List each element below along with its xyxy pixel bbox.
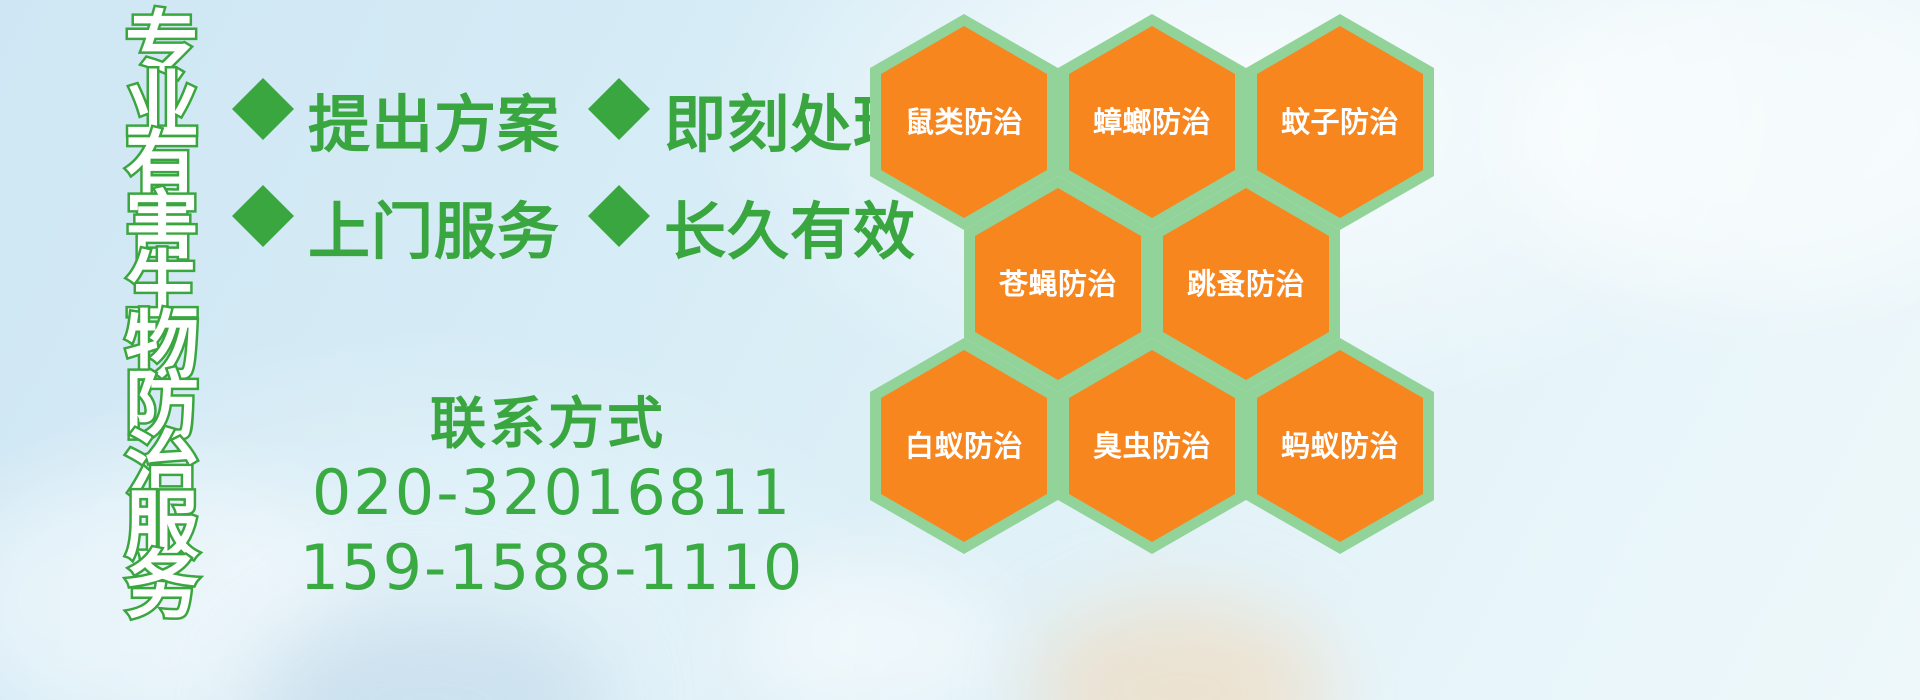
hex-label: 跳蚤防治 (1187, 270, 1305, 299)
hex-inner: 蚊子防治 (1257, 26, 1423, 218)
hex-label: 蟑螂防治 (1093, 108, 1211, 137)
service-honeycomb: 鼠类防治 蟑螂防治 蚊子防治 苍蝇防治 跳蚤防治 白蚁防治 (862, 8, 1462, 568)
contact-block: 联系方式 020-32016811 159-1588-1110 (232, 396, 872, 606)
hex-label: 苍蝇防治 (999, 270, 1117, 299)
pest-control-banner: 专 业 有 害 生 物 防 治 服 务 提出方案 即刻处理 上门服务 (0, 0, 1920, 700)
hex-inner: 蟑螂防治 (1069, 26, 1235, 218)
hex-label: 臭虫防治 (1093, 432, 1211, 461)
phone-number-landline[interactable]: 020-32016811 (232, 455, 872, 531)
feature-list: 提出方案 即刻处理 上门服务 长久有效 (232, 78, 862, 292)
hex-inner: 苍蝇防治 (975, 188, 1141, 380)
background-blur-blob (250, 600, 610, 700)
hex-inner: 跳蚤防治 (1163, 188, 1329, 380)
feature-label: 提出方案 (308, 94, 560, 156)
vertical-headline-char: 务 (125, 556, 199, 616)
hex-label: 蚊子防治 (1281, 108, 1399, 137)
contact-heading: 联系方式 (430, 396, 872, 455)
feature-row: 上门服务 长久有效 (232, 185, 862, 278)
background-blur-blob (1500, 0, 1920, 300)
hex-inner: 白蚁防治 (881, 350, 1047, 542)
hex-label: 白蚁防治 (905, 432, 1023, 461)
vertical-headline: 专 业 有 害 生 物 防 治 服 务 (108, 16, 216, 700)
feature-label: 上门服务 (308, 201, 560, 263)
hex-inner: 蚂蚁防治 (1257, 350, 1423, 542)
hex-inner: 鼠类防治 (881, 26, 1047, 218)
feature-row: 提出方案 即刻处理 (232, 78, 862, 171)
hex-label: 鼠类防治 (905, 108, 1023, 137)
background-blur-blob (1030, 600, 1330, 700)
feature-item-onsite-service: 上门服务 (232, 185, 560, 278)
phone-number-mobile[interactable]: 159-1588-1110 (232, 530, 872, 606)
diamond-icon (232, 216, 294, 278)
hex-inner: 臭虫防治 (1069, 350, 1235, 542)
diamond-icon (588, 216, 650, 278)
hex-label: 蚂蚁防治 (1281, 432, 1399, 461)
